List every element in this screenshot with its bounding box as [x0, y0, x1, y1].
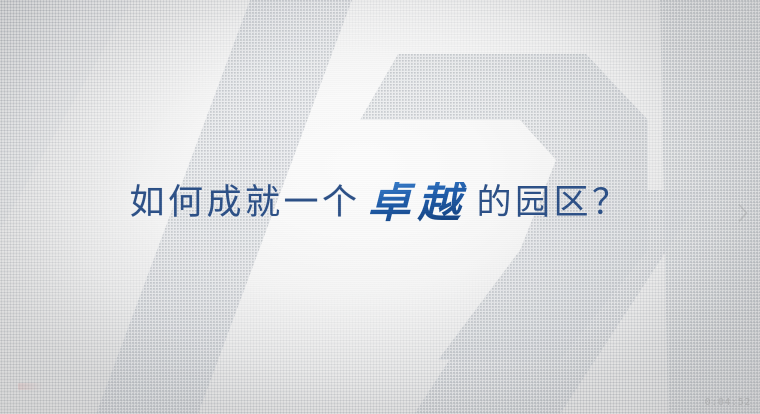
corner-artifact: [18, 383, 44, 390]
timestamp-overlay: 0:04:52: [705, 397, 751, 408]
video-frame: 如何成就一个 卓越 的园区？ 0:04:52: [0, 0, 760, 414]
background-vignette: [0, 0, 760, 414]
chevron-right-icon: [737, 203, 749, 223]
next-slide-button[interactable]: [732, 198, 754, 228]
